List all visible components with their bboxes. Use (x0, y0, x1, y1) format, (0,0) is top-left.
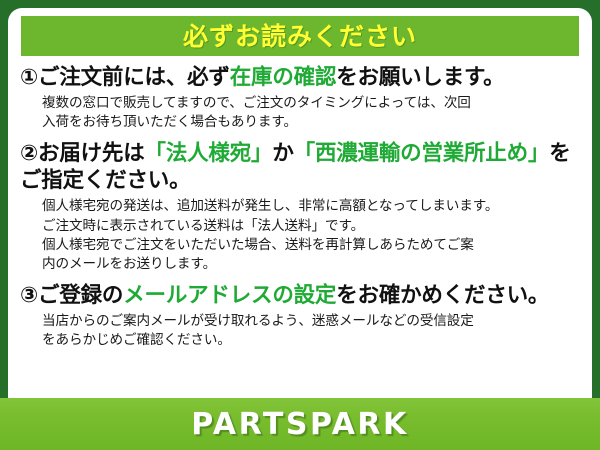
notice-item-2: ②お届け先は「法人様宛」か「西濃運輸の営業所止め」をご指定ください。 個人様宅宛… (20, 140, 582, 275)
notice-panel: 必ずお読みください ①ご注文前には、必ず在庫の確認をお願いします。 複数の窓口で… (8, 8, 592, 413)
notice-item-1-heading-after: をお願いします。 (336, 65, 504, 90)
notice-item-2-detail-line-3: 個人様宅宛でご注文をいただいた場合、送料を再計算しあらためてご案 (42, 236, 582, 255)
notice-item-3-heading-before: ご登録の (38, 283, 123, 308)
notice-item-3-heading: ③ご登録のメールアドレスの設定をお確かめください。 (20, 282, 582, 310)
notice-item-2-detail-line-2: ご注文時に表示されている送料は「法人送料」です。 (42, 217, 582, 236)
notice-item-2-detail-line-4: 内のメールをお送りします。 (42, 255, 582, 274)
notice-item-1-heading: ①ご注文前には、必ず在庫の確認をお願いします。 (20, 64, 582, 92)
footer-band: PARTSPARK (0, 398, 600, 450)
notice-item-2-heading-highlight-corporate: 「法人様宛」 (145, 141, 273, 166)
notice-item-3: ③ご登録のメールアドレスの設定をお確かめください。 当店からのご案内メールが受け… (20, 282, 582, 351)
notice-item-1-heading-before: ご注文前には、必ず (38, 65, 230, 90)
notice-item-1-detail-line-2: 入荷をお待ち頂いただく場合もあります。 (42, 113, 582, 132)
notice-item-2-heading-highlight-depot: 「西濃運輸の営業所止め」 (294, 141, 550, 166)
notice-item-1-marker: ① (20, 65, 38, 90)
notice-item-1: ①ご注文前には、必ず在庫の確認をお願いします。 複数の窓口で販売してますので、ご… (20, 64, 582, 133)
partspark-logo: PARTSPARK (191, 407, 409, 442)
notice-item-2-heading: ②お届け先は「法人様宛」か「西濃運輸の営業所止め」をご指定ください。 (20, 140, 582, 196)
notice-item-3-detail: 当店からのご案内メールが受け取れるよう、迷惑メールなどの受信設定 をあらかじめご… (20, 312, 582, 351)
notice-title: 必ずお読みください (183, 24, 417, 49)
notice-item-1-heading-highlight: 在庫の確認 (230, 65, 337, 90)
notice-body: ①ご注文前には、必ず在庫の確認をお願いします。 複数の窓口で販売してますので、ご… (8, 64, 592, 357)
notice-item-3-heading-highlight: メールアドレスの設定 (123, 283, 336, 308)
notice-item-2-detail: 個人様宅宛の発送は、追加送料が発生し、非常に高額となってしまいます。 ご注文時に… (20, 197, 582, 274)
notice-item-2-heading-before: お届け先は (38, 141, 145, 166)
notice-item-3-heading-after: をお確かめください。 (336, 283, 549, 308)
notice-frame: 必ずお読みください ①ご注文前には、必ず在庫の確認をお願いします。 複数の窓口で… (0, 0, 600, 450)
notice-item-1-detail-line-1: 複数の窓口で販売してますので、ご注文のタイミングによっては、次回 (42, 94, 582, 113)
title-banner: 必ずお読みください (21, 16, 579, 56)
notice-item-2-marker: ② (20, 141, 38, 166)
notice-item-2-heading-middle: か (272, 141, 293, 166)
notice-item-3-detail-line-2: をあらかじめご確認ください。 (42, 331, 582, 350)
notice-item-3-marker: ③ (20, 283, 38, 308)
notice-item-1-detail: 複数の窓口で販売してますので、ご注文のタイミングによっては、次回 入荷をお待ち頂… (20, 94, 582, 133)
notice-item-2-detail-line-1: 個人様宅宛の発送は、追加送料が発生し、非常に高額となってしまいます。 (42, 197, 582, 216)
notice-item-3-detail-line-1: 当店からのご案内メールが受け取れるよう、迷惑メールなどの受信設定 (42, 312, 582, 331)
